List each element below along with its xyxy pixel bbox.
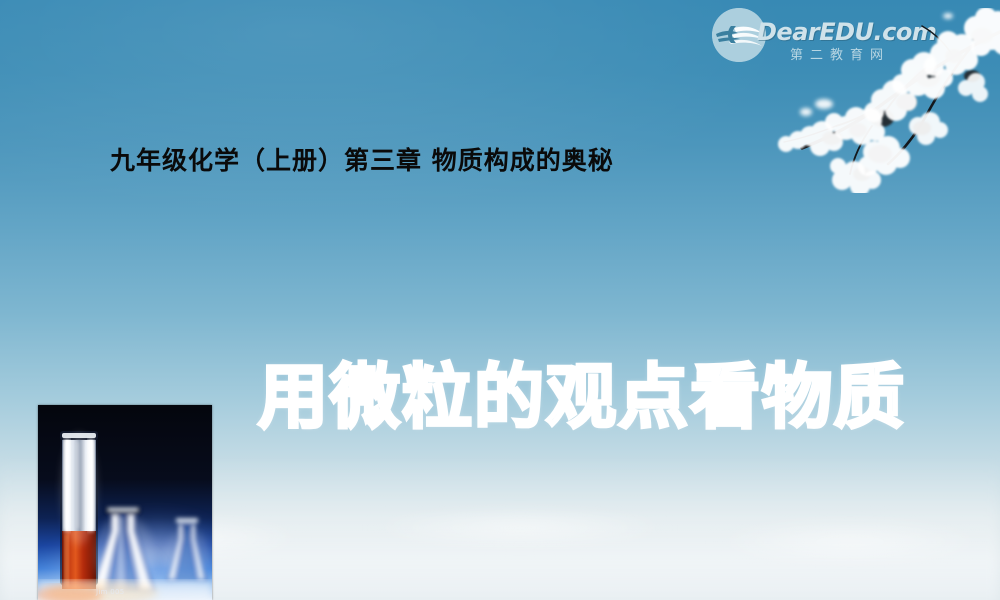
lab-photo-scene (38, 405, 212, 600)
logo-wordmark: DearEDU.com (757, 18, 936, 46)
chemistry-lab-photo: Jim 005 (38, 405, 212, 600)
logo-subword: 第二教育网 (790, 44, 890, 63)
photo-watermark: Jim 005 (96, 588, 125, 596)
slide-subtitle: 九年级化学（上册）第三章 物质构成的奥秘 (110, 141, 614, 177)
presentation-slide: DearEDU.com 第二教育网 (0, 0, 1000, 600)
slide-main-title: 用微粒的观点看物质 (258, 341, 906, 442)
dearedu-logo[interactable]: DearEDU.com 第二教育网 (712, 6, 902, 64)
